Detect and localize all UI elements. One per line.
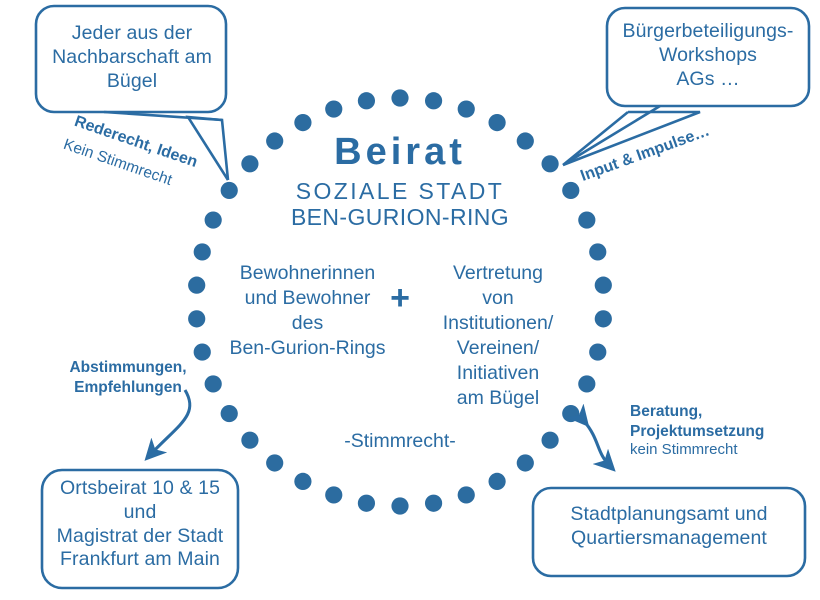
ring-dot bbox=[188, 277, 205, 294]
connector-label-abstimmungen: Abstimmungen, Empfehlungen bbox=[48, 358, 208, 397]
bubble-text-top-left: Jeder aus der Nachbarschaft am Bügel bbox=[42, 22, 222, 93]
ring-dot bbox=[188, 310, 205, 327]
connector-label-beratung: Beratung, Projektumsetzung bbox=[630, 402, 810, 441]
ring-dot bbox=[325, 486, 342, 503]
ring-dot bbox=[358, 92, 375, 109]
ring-dot bbox=[578, 211, 595, 228]
ring-dot bbox=[325, 100, 342, 117]
ring-dot bbox=[517, 454, 534, 471]
ring-dot bbox=[517, 132, 534, 149]
ring-dot bbox=[205, 211, 222, 228]
ring-dot bbox=[221, 405, 238, 422]
ring-dot bbox=[241, 432, 258, 449]
diagram-title: Beirat bbox=[300, 129, 500, 175]
box-text-ortsbeirat: Ortsbeirat 10 & 15 und Magistrat der Sta… bbox=[46, 477, 234, 572]
ring-dot bbox=[266, 454, 283, 471]
ring-dot bbox=[595, 310, 612, 327]
ring-dot bbox=[578, 375, 595, 392]
ring-dot bbox=[294, 473, 311, 490]
ring-dot bbox=[458, 100, 475, 117]
ring-dot bbox=[266, 132, 283, 149]
ring-dot bbox=[541, 432, 558, 449]
ring-dot bbox=[425, 495, 442, 512]
diagram-canvas: Jeder aus der Nachbarschaft am Bügel Red… bbox=[0, 0, 820, 600]
voting-rights-label: -Stimmrecht- bbox=[330, 430, 470, 454]
plus-icon: + bbox=[385, 281, 415, 315]
ring-dot bbox=[589, 343, 606, 360]
ring-dot bbox=[562, 182, 579, 199]
ring-dot bbox=[391, 89, 408, 106]
ring-dot bbox=[391, 497, 408, 514]
connector-label-kein-stimmrecht-right: kein Stimmrecht bbox=[630, 441, 810, 460]
ring-dot bbox=[488, 473, 505, 490]
ring-dot bbox=[358, 495, 375, 512]
ring-dot bbox=[458, 486, 475, 503]
ring-dot bbox=[595, 277, 612, 294]
diagram-subtitle-2: BEN-GURION-RING bbox=[280, 203, 520, 231]
diagram-subtitle-1: SOZIALE STADT bbox=[280, 177, 520, 205]
arrow-ring-to-ortsbeirat bbox=[150, 390, 190, 455]
ring-dot bbox=[425, 92, 442, 109]
members-residents: Bewohnerinnen und Bewohner des Ben-Gurio… bbox=[215, 261, 400, 361]
ring-dot bbox=[194, 243, 211, 260]
ring-dot bbox=[541, 155, 558, 172]
bubble-text-top-right: Bürgerbeteiligungs- Workshops AGs … bbox=[612, 20, 804, 91]
ring-dot bbox=[589, 243, 606, 260]
box-text-stadtplanungsamt: Stadtplanungsamt und Quartiersmanagement bbox=[540, 503, 798, 551]
members-institutions: Vertretung von Institutionen/ Vereinen/ … bbox=[418, 261, 578, 411]
arrow-ring-stadtplanungsamt bbox=[584, 421, 610, 466]
